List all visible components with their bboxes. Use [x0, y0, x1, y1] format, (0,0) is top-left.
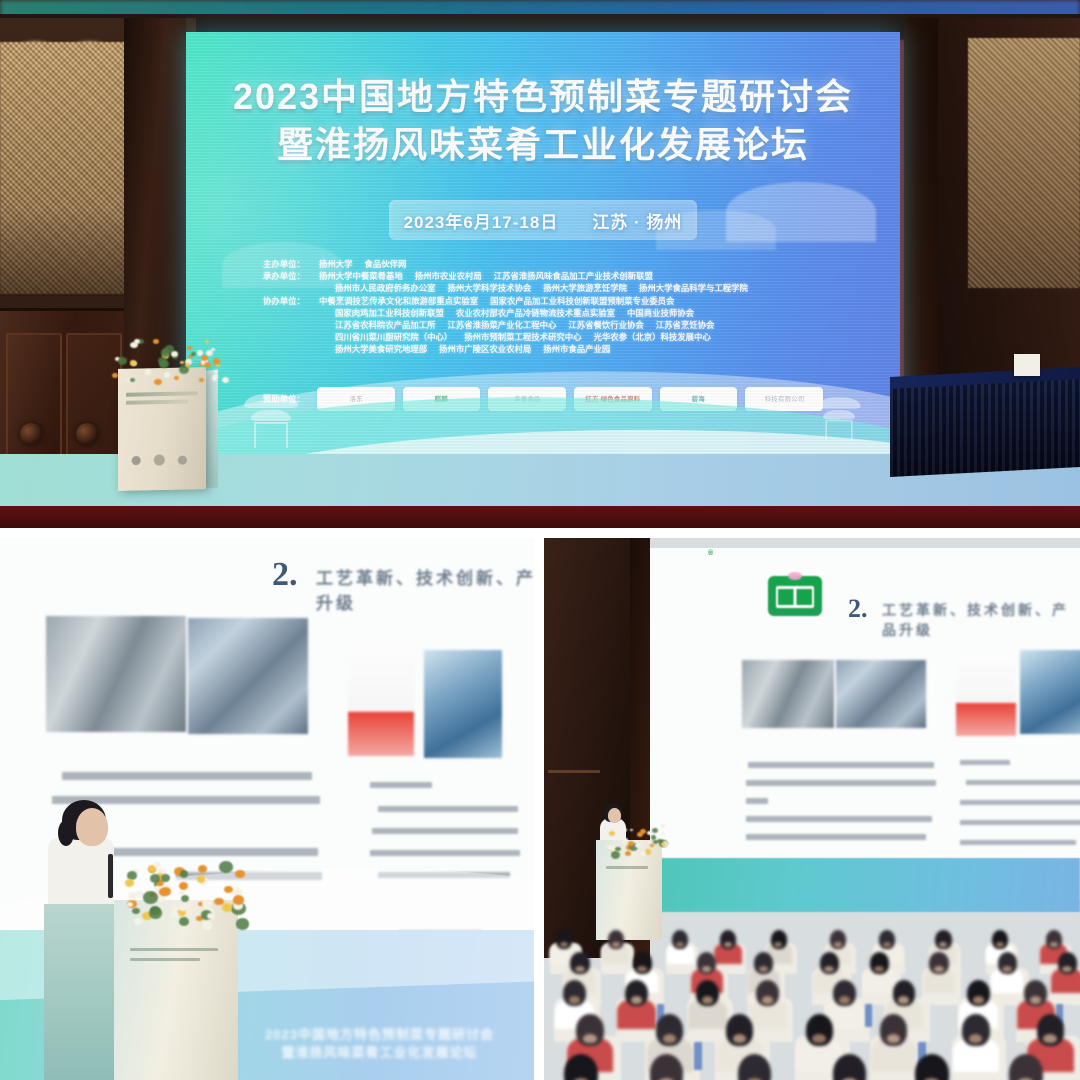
attendee-neck [583, 1034, 597, 1043]
flower [134, 918, 142, 925]
microphone-icon [108, 854, 113, 898]
speaker-body [48, 838, 114, 908]
speaker-head [608, 808, 621, 823]
attendee-neck [676, 942, 684, 948]
organizer-row: 江苏省农科院农产品加工所江苏省淮扬菜产业化工程中心江苏省餐饮行业协会江苏省烹饪协… [263, 319, 823, 331]
slide-heading: 工艺革新、技术创新、产品升级 [316, 564, 534, 614]
door-trim [548, 770, 600, 773]
organizer-row: 扬州大学美食研究地理部扬州市广陵区农业农村局扬州市食品产业园 [263, 343, 823, 355]
slide-body-line [960, 760, 1010, 765]
slide-body-line [370, 782, 432, 788]
slide-photo-workshop [424, 650, 502, 758]
attendee-head [833, 1054, 867, 1080]
organizer-name: 四川省川菜川厨研究院（中心） [335, 332, 452, 342]
attendee-neck [575, 966, 585, 973]
flower [128, 892, 137, 900]
presentation-slide: ® 2. 工艺革新、技术创新、产品升级 [650, 548, 1080, 900]
organizer-list: 主办单位：扬州大学食品伙伴网承办单位：扬州大学中餐菜肴基地扬州市农业农村局江苏省… [263, 258, 823, 356]
company-logo-icon [768, 576, 822, 616]
organizer-label: 主办单位： [263, 258, 319, 270]
flower [143, 891, 158, 904]
attendee-neck [1062, 966, 1072, 973]
flower [158, 357, 167, 364]
organizer-name: 扬州市食品产业园 [543, 344, 610, 354]
slide-photo-packaging-line [836, 660, 926, 728]
podium-side [206, 369, 218, 488]
flower [628, 841, 634, 846]
slide-number: 2. [848, 594, 868, 624]
flower [207, 913, 215, 920]
flower [179, 906, 185, 911]
floral-arrangement [112, 338, 222, 380]
lectern-title-text [130, 948, 218, 951]
lectern [114, 900, 238, 1080]
flower [622, 828, 627, 832]
attendee-neck [733, 1034, 747, 1043]
flower [130, 360, 136, 365]
flower [180, 361, 184, 364]
stage-backdrop-lower [604, 858, 1080, 912]
podium [118, 367, 206, 491]
slide-body-line [966, 780, 1080, 785]
slide-heading: 工艺革新、技术创新、产品升级 [882, 600, 1080, 640]
flower [645, 849, 651, 854]
attendee-neck [631, 996, 642, 1004]
flower [206, 350, 213, 356]
attendee-neck [569, 996, 580, 1004]
woven-wall-panel [968, 38, 1080, 288]
attendee-neck [724, 942, 732, 948]
flower [650, 844, 654, 847]
organizer-name: 扬州市农业农村局 [415, 271, 482, 281]
attendee-neck [996, 942, 1004, 948]
lectern-flowers [606, 824, 662, 852]
flower [174, 376, 179, 380]
photo-collage: 2023中国地方特色预制菜专题研讨会 暨淮扬风味菜肴工业化发展论坛 2023年6… [0, 0, 1080, 1080]
organizer-name: 食品伙伴网 [365, 259, 407, 269]
flower [161, 874, 170, 882]
organizer-row: 四川省川菜川厨研究院（中心）扬州市预制菜工程技术研究中心光华农参（北京）科技发展… [263, 331, 823, 343]
attendee-neck [663, 1034, 677, 1043]
water-bottle [865, 1004, 872, 1027]
attendee-neck [839, 996, 850, 1004]
organizer-name: 扬州大学科学技术协会 [448, 283, 532, 293]
flower [130, 378, 135, 383]
organizer-name: 中国商业技师协会 [627, 308, 694, 318]
flower [181, 895, 189, 902]
organizer-name: 江苏省淮扬菜产业化工程中心 [448, 320, 557, 330]
attendee-neck [762, 996, 773, 1004]
slide-body-line [372, 828, 518, 834]
audience-wide-shot-photo: ® 2. 工艺革新、技术创新、产品升级 [544, 538, 1080, 1080]
speaker-closeup-photo: 2. 工艺革新、技术创新、产品升级 2023中国地方特色预制菜专题研讨会 暨淮扬… [0, 538, 534, 1080]
attendee-neck [812, 1034, 826, 1043]
attendee-neck [934, 966, 944, 973]
attendee-neck [637, 966, 647, 973]
flower [222, 903, 232, 912]
slide-body-line [62, 772, 312, 780]
slide-photo-production-line [46, 616, 186, 732]
flower [153, 339, 159, 344]
slide-body-line [746, 816, 932, 822]
organizer-name: 中餐烹调技艺传承文化和旅游部重点实验室 [319, 296, 478, 306]
flower [161, 887, 171, 895]
flower [630, 829, 633, 832]
flower [187, 346, 192, 350]
slide-body-line [960, 840, 1076, 845]
organizer-name: 江苏省烹饪协会 [656, 320, 715, 330]
podium-logo-row [128, 453, 196, 466]
flower [205, 340, 209, 343]
organizer-name: 扬州大学食品科学与工程学院 [639, 283, 748, 293]
water-bottle [694, 1042, 702, 1069]
attendee-neck [1002, 966, 1012, 973]
event-title-line2: 暨淮扬风味菜肴工业化发展论坛 [186, 120, 900, 170]
lectern-subtitle-text [130, 958, 200, 961]
flower [224, 886, 232, 893]
flower [640, 829, 646, 834]
flower [197, 875, 205, 882]
attendee-head [915, 1054, 949, 1080]
attendee-neck [1043, 1034, 1057, 1043]
attendee-neck [560, 942, 568, 948]
slide-body-line [748, 762, 934, 768]
slide-body-line [370, 850, 520, 856]
flower [134, 339, 140, 344]
door-handle-icon [20, 423, 42, 445]
organizer-name: 国家肉鸡加工业科技创新联盟 [335, 308, 444, 318]
event-title-line1: 2023中国地方特色预制菜专题研讨会 [186, 74, 900, 120]
organizer-values: 国家肉鸡加工业科技创新联盟农业农村部农产品冷链物流技术重点实验室中国商业技师协会 [319, 307, 823, 319]
lectern-flowers [124, 860, 240, 922]
flower [657, 839, 662, 843]
event-title: 2023中国地方特色预制菜专题研讨会 暨淮扬风味菜肴工业化发展论坛 [186, 74, 900, 170]
organizer-name: 扬州大学 [319, 259, 353, 269]
organizer-row: 扬州市人民政府侨务办公室扬州大学科学技术协会扬州大学旅游烹饪学院扬州大学食品科学… [263, 282, 823, 294]
organizer-name: 扬州市人民政府侨务办公室 [335, 283, 436, 293]
slide-body-line [746, 834, 926, 840]
attendee-neck [1050, 942, 1058, 948]
flower [180, 870, 188, 877]
event-location: 江苏 · 扬州 [592, 208, 682, 233]
registered-mark-icon: ® [708, 550, 713, 557]
flower [150, 874, 160, 882]
attendee-neck [612, 942, 620, 948]
flower [125, 879, 134, 887]
flower [145, 369, 152, 375]
flower [216, 364, 220, 367]
speaker-ponytail [58, 820, 74, 846]
name-card [1014, 354, 1040, 376]
flower [219, 861, 233, 873]
slide-body-line [960, 800, 1080, 805]
organizer-name: 农业农村部农产品冷链物流技术重点实验室 [456, 308, 615, 318]
flower [661, 824, 665, 828]
attendee-neck [887, 1034, 901, 1043]
flower [185, 363, 190, 367]
flower [191, 352, 196, 356]
podium-subtitle-text [126, 399, 188, 404]
organizer-name: 扬州市预制菜工程技术研究中心 [464, 332, 581, 342]
flower [132, 908, 140, 914]
flower [233, 895, 244, 904]
date-location-badge: 2023年6月17-18日 江苏 · 扬州 [389, 200, 697, 240]
slide-body-line [746, 798, 768, 804]
flower [611, 851, 620, 859]
slide-photo-production-line [742, 660, 834, 728]
flower [171, 351, 178, 357]
organizer-values: 四川省川菜川厨研究院（中心）扬州市预制菜工程技术研究中心光华农参（北京）科技发展… [319, 331, 823, 343]
pavilion-icon [244, 394, 298, 448]
organizer-row: 主办单位：扬州大学食品伙伴网 [263, 258, 823, 270]
attendee-neck [883, 942, 891, 948]
led-backdrop-screen: 2023中国地方特色预制菜专题研讨会 暨淮扬风味菜肴工业化发展论坛 2023年6… [186, 32, 900, 472]
organizer-values: 扬州大学中餐菜肴基地扬州市农业农村局江苏省淮扬风味食品加工产业技术创新联盟 [319, 270, 823, 282]
organizer-name: 江苏省餐饮行业协会 [568, 320, 643, 330]
lectern-side [44, 904, 116, 1080]
organizer-name: 扬州大学中餐菜肴基地 [319, 271, 403, 281]
flower [179, 882, 188, 890]
flower [652, 828, 658, 833]
organizer-name: 国家农产品加工业科技创新联盟预制菜专业委员会 [490, 296, 674, 306]
organizer-label: 协办单位： [263, 295, 319, 307]
flower [213, 374, 219, 379]
backdrop-title-line2: 暨淮扬风味菜肴工业化发展论坛 [265, 1044, 494, 1062]
organizer-row: 承办单位：扬州大学中餐菜肴基地扬州市农业农村局江苏省淮扬风味食品加工产业技术创新… [263, 270, 823, 282]
slide-body-line [378, 806, 518, 812]
table-skirt [890, 379, 1080, 477]
flower [112, 373, 118, 378]
slide-body-line [110, 848, 318, 856]
attendee-neck [969, 1034, 983, 1043]
organizer-name: 扬州大学旅游烹饪学院 [543, 283, 627, 293]
slide-photo-packaging-line [188, 618, 308, 734]
flower [204, 362, 211, 368]
flower [198, 865, 207, 873]
backdrop-title-line1: 2023中国地方特色预制菜专题研讨会 [265, 1026, 494, 1044]
slide-body-line [746, 780, 936, 786]
slide-photo-poster [956, 648, 1016, 736]
stage-wide-shot-photo: 2023中国地方特色预制菜专题研讨会 暨淮扬风味菜肴工业化发展论坛 2023年6… [0, 0, 1080, 528]
organizer-row: 协办单位：中餐烹调技艺传承文化和旅游部重点实验室国家农产品加工业科技创新联盟预制… [263, 295, 823, 307]
flower [171, 912, 178, 918]
backdrop-title: 2023中国地方特色预制菜专题研讨会 暨淮扬风味菜肴工业化发展论坛 [265, 1026, 494, 1062]
flower [161, 349, 170, 356]
flower [154, 862, 161, 868]
flower [236, 918, 249, 929]
organizer-name: 扬州市广陵区农业农村局 [439, 344, 531, 354]
stage-front-edge [0, 506, 1080, 528]
slide-photo-workshop [1020, 650, 1080, 734]
flower [148, 866, 154, 871]
attendee-neck [973, 996, 984, 1004]
organizer-name: 江苏省农科院农产品加工所 [335, 320, 436, 330]
organizer-row: 国家肉鸡加工业科技创新联盟农业农村部农产品冷链物流技术重点实验室中国商业技师协会 [263, 307, 823, 319]
organizer-values: 扬州市人民政府侨务办公室扬州大学科学技术协会扬州大学旅游烹饪学院扬州大学食品科学… [319, 282, 823, 294]
event-date: 2023年6月17-18日 [404, 208, 559, 233]
organizer-values: 扬州大学食品伙伴网 [319, 258, 823, 270]
slide-number: 2. [272, 556, 298, 594]
organizer-label: 承办单位： [263, 270, 319, 282]
flower [651, 835, 656, 839]
flower [118, 357, 127, 365]
lectern-title-text [606, 866, 648, 869]
slide-body-line [960, 820, 1080, 825]
flower [615, 847, 621, 852]
podium-title-text [126, 391, 198, 397]
flower [214, 370, 218, 373]
attendee-neck [702, 996, 713, 1004]
flower [164, 372, 171, 378]
flower [609, 831, 615, 836]
head-table [890, 372, 1080, 476]
organizer-values: 中餐烹调技艺传承文化和旅游部重点实验室国家农产品加工业科技创新联盟预制菜专业委员… [319, 295, 823, 307]
flower [199, 378, 204, 382]
flower [661, 832, 665, 835]
organizer-name: 扬州大学美食研究地理部 [335, 344, 427, 354]
flower [641, 851, 646, 855]
flower [149, 907, 163, 919]
slide-photo-poster [348, 638, 414, 756]
door-handle-icon [76, 423, 98, 445]
organizer-values: 江苏省农科院农产品加工所江苏省淮扬菜产业化工程中心江苏省餐饮行业协会江苏省烹饪协… [319, 319, 823, 331]
organizer-values: 扬州大学美食研究地理部扬州市广陵区农业农村局扬州市食品产业园 [319, 343, 823, 355]
flower [635, 843, 641, 848]
organizer-name: 江苏省淮扬风味食品加工产业技术创新联盟 [494, 271, 653, 281]
speaker-head [76, 808, 108, 846]
attendee-neck [834, 942, 842, 948]
pavilion-icon [817, 397, 860, 440]
organizer-name: 光华农参（北京）科技发展中心 [594, 332, 711, 342]
